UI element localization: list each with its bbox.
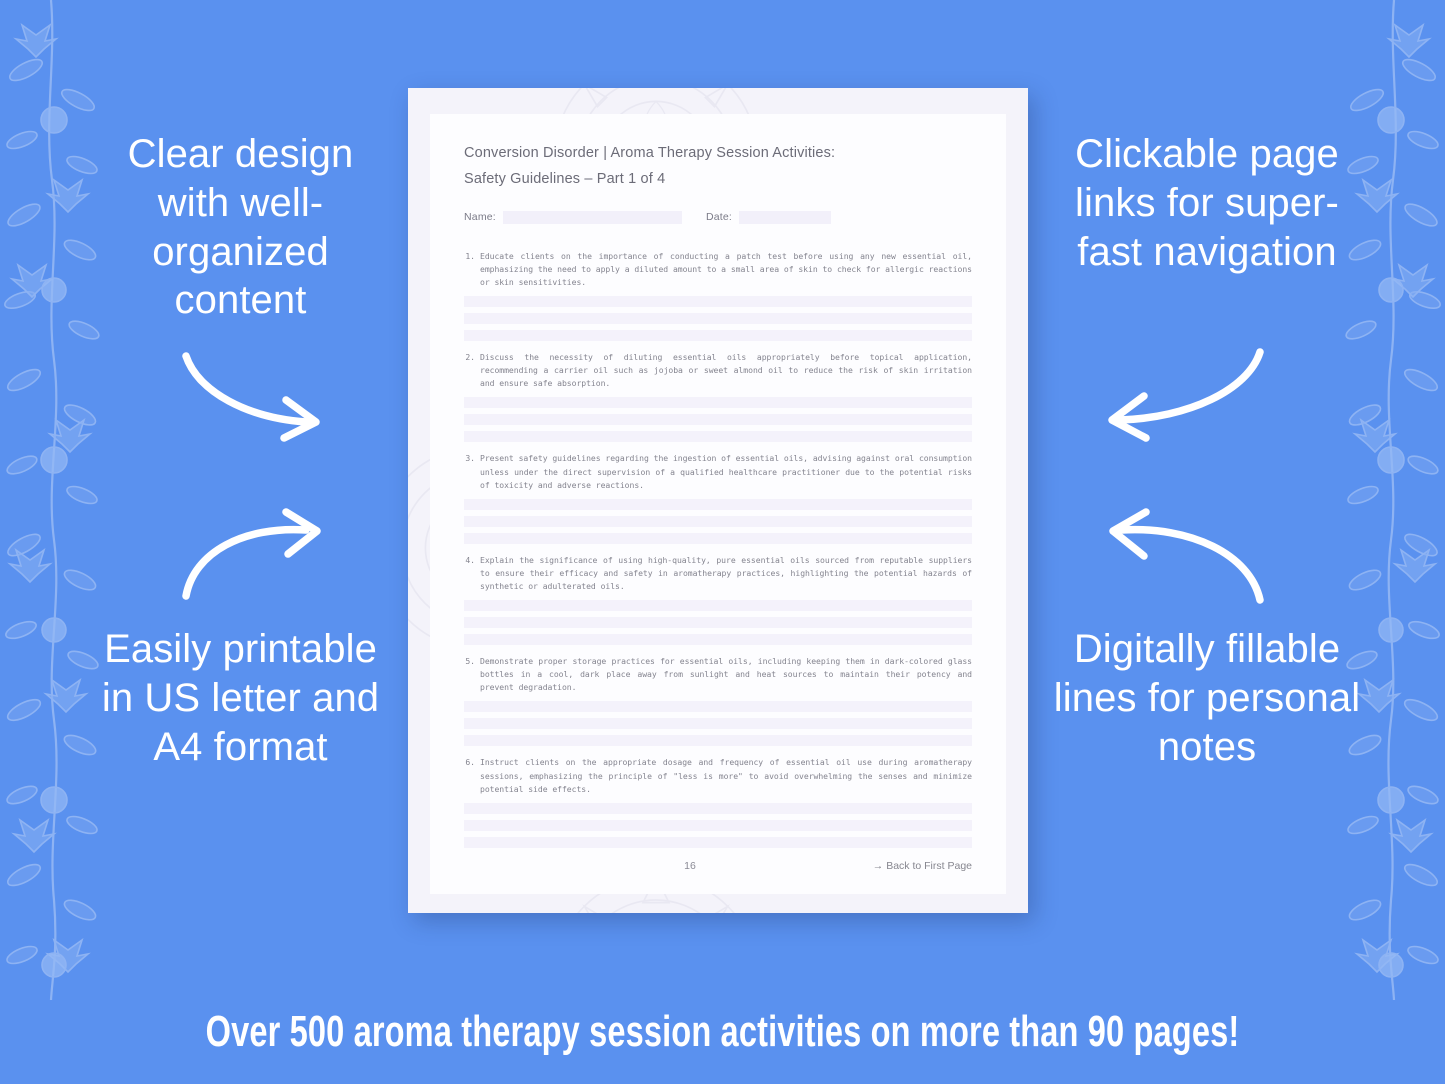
fillable-line[interactable] — [464, 516, 972, 527]
activity-item-body: 1.Educate clients on the importance of c… — [464, 250, 972, 289]
fillable-lines — [464, 803, 972, 848]
banner-text: Over 500 aroma therapy session activitie… — [206, 1007, 1240, 1057]
activity-item: 3.Present safety guidelines regarding th… — [464, 452, 972, 543]
page-title: Conversion Disorder | Aroma Therapy Sess… — [464, 140, 972, 193]
activity-item: 2.Discuss the necessity of diluting esse… — [464, 351, 972, 442]
activity-item-number: 2. — [464, 351, 480, 390]
fillable-line[interactable] — [464, 735, 972, 746]
name-label: Name: — [464, 211, 496, 223]
activity-item-body: 5.Demonstrate proper storage practices f… — [464, 655, 972, 694]
fillable-line[interactable] — [464, 617, 972, 628]
page-title-line1: Conversion Disorder | Aroma Therapy Sess… — [464, 140, 972, 166]
fillable-lines — [464, 499, 972, 544]
fillable-line[interactable] — [464, 533, 972, 544]
fillable-line[interactable] — [464, 803, 972, 814]
fillable-line[interactable] — [464, 718, 972, 729]
activity-item-number: 5. — [464, 655, 480, 694]
fillable-line[interactable] — [464, 431, 972, 442]
fillable-line[interactable] — [464, 296, 972, 307]
date-input[interactable] — [739, 211, 831, 224]
fillable-line[interactable] — [464, 414, 972, 425]
page-number: 16 — [684, 860, 696, 872]
name-input[interactable] — [503, 211, 682, 224]
curved-arrow-icon-top-left — [178, 352, 338, 442]
activity-item-text: Present safety guidelines regarding the … — [480, 452, 972, 491]
activity-item: 4.Explain the significance of using high… — [464, 554, 972, 645]
fillable-line[interactable] — [464, 600, 972, 611]
fillable-lines — [464, 600, 972, 645]
activity-item-text: Educate clients on the importance of con… — [480, 250, 972, 289]
activity-item-number: 6. — [464, 756, 480, 795]
curved-arrow-icon-bottom-left — [178, 512, 338, 602]
page-title-line2: Safety Guidelines – Part 1 of 4 — [464, 166, 972, 192]
activity-item-number: 1. — [464, 250, 480, 289]
activity-item-body: 2.Discuss the necessity of diluting esse… — [464, 351, 972, 390]
fillable-line[interactable] — [464, 634, 972, 645]
activity-item-text: Discuss the necessity of diluting essent… — [480, 351, 972, 390]
bottom-banner: Over 500 aroma therapy session activitie… — [0, 979, 1445, 1084]
activity-item: 5.Demonstrate proper storage practices f… — [464, 655, 972, 746]
date-label: Date: — [706, 211, 732, 223]
activity-item-body: 3.Present safety guidelines regarding th… — [464, 452, 972, 491]
curved-arrow-icon-top-right — [1100, 348, 1270, 443]
fillable-line[interactable] — [464, 330, 972, 341]
fillable-line[interactable] — [464, 397, 972, 408]
activity-item-text: Explain the significance of using high-q… — [480, 554, 972, 593]
activity-item-body: 6.Instruct clients on the appropriate do… — [464, 756, 972, 795]
back-to-first-page-link[interactable]: → Back to First Page — [873, 860, 972, 872]
fillable-lines — [464, 296, 972, 341]
fillable-lines — [464, 701, 972, 746]
activity-item: 6.Instruct clients on the appropriate do… — [464, 756, 972, 847]
fillable-lines — [464, 397, 972, 442]
activity-item-number: 3. — [464, 452, 480, 491]
activity-item-text: Instruct clients on the appropriate dosa… — [480, 756, 972, 795]
fillable-line[interactable] — [464, 499, 972, 510]
fillable-line[interactable] — [464, 837, 972, 848]
activity-list: 1.Educate clients on the importance of c… — [464, 250, 972, 848]
promo-bottom-left: Easily printable in US letter and A4 for… — [88, 625, 393, 771]
curved-arrow-icon-bottom-right — [1100, 512, 1270, 607]
activity-item-text: Demonstrate proper storage practices for… — [480, 655, 972, 694]
worksheet-page: Conversion Disorder | Aroma Therapy Sess… — [430, 114, 1006, 894]
activity-item: 1.Educate clients on the importance of c… — [464, 250, 972, 341]
name-date-row: Name: Date: — [464, 211, 972, 224]
worksheet-card: Conversion Disorder | Aroma Therapy Sess… — [408, 88, 1028, 913]
fillable-line[interactable] — [464, 820, 972, 831]
fillable-line[interactable] — [464, 313, 972, 324]
activity-item-number: 4. — [464, 554, 480, 593]
promo-bottom-right: Digitally fillable lines for personal no… — [1047, 625, 1367, 771]
promo-top-left: Clear design with well-organized content — [88, 130, 393, 325]
page-footer: 16 → Back to First Page — [464, 860, 972, 872]
activity-item-body: 4.Explain the significance of using high… — [464, 554, 972, 593]
fillable-line[interactable] — [464, 701, 972, 712]
promo-top-right: Clickable page links for super-fast navi… — [1047, 130, 1367, 276]
